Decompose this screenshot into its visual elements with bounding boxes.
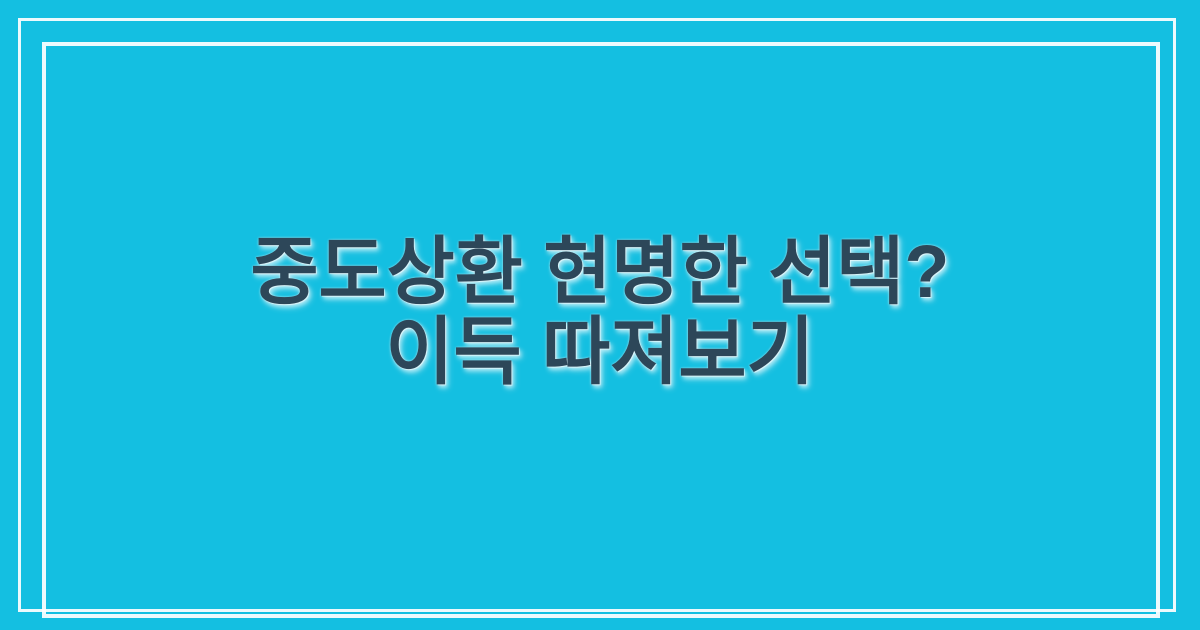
thumbnail-card: 중도상환 현명한 선택? 이득 따져보기 (0, 0, 1200, 630)
headline-container: 중도상환 현명한 선택? 이득 따져보기 (0, 0, 1200, 630)
headline-title: 중도상환 현명한 선택? 이득 따져보기 (250, 232, 949, 392)
headline-line-2: 이득 따져보기 (250, 312, 949, 392)
headline-line-1: 중도상환 현명한 선택? (250, 232, 949, 312)
